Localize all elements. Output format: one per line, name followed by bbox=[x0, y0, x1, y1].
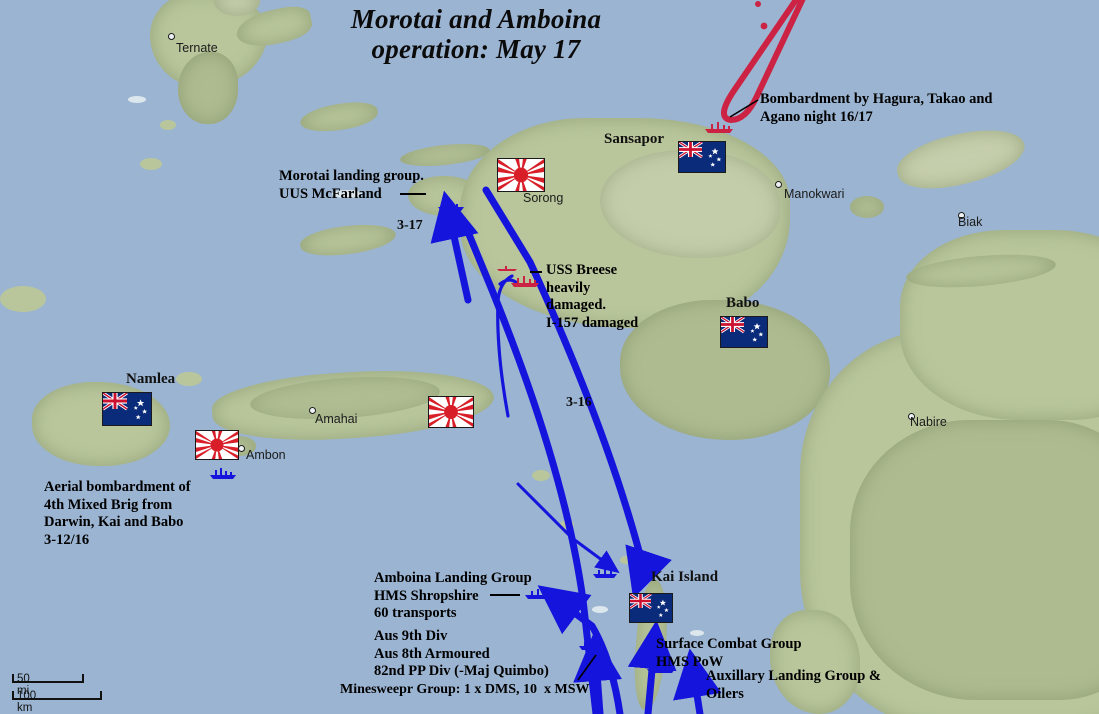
scale-bar-km-label: 100 km bbox=[17, 690, 36, 714]
place-ambon: Ambon bbox=[246, 448, 286, 462]
minesweeper-group-note: Minesweepr Group: 1 x DMS, 10 x MSW bbox=[340, 681, 590, 698]
track-label-3-16: 3-16 bbox=[566, 395, 592, 411]
flag-nz-sansapor bbox=[678, 141, 726, 173]
aerial-bombardment-note: Aerial bombardment of 4th Mixed Brig fro… bbox=[44, 479, 191, 550]
city-dot-ternate bbox=[168, 33, 175, 40]
ship-symbol-kai-approach bbox=[592, 568, 618, 579]
flag-japan-seram bbox=[428, 396, 474, 428]
ship-symbol-minesweeper-group bbox=[578, 640, 604, 651]
reef-3 bbox=[592, 606, 608, 613]
islet-5 bbox=[532, 470, 550, 481]
islet-1 bbox=[160, 120, 176, 130]
islet-3 bbox=[0, 286, 46, 312]
place-namlea: Namlea bbox=[126, 371, 175, 388]
city-dot-ambon bbox=[238, 445, 245, 452]
islet-6 bbox=[560, 520, 574, 529]
place-nabire: Nabire bbox=[910, 415, 947, 429]
morotai-landing-group-note: Morotai landing group. UUS McFarland bbox=[279, 168, 424, 203]
islet-4 bbox=[176, 372, 202, 386]
place-kai-island: Kai Island bbox=[651, 569, 718, 586]
morotai-leader-line bbox=[400, 193, 426, 195]
ship-symbol-auxillary-landing-group bbox=[680, 676, 708, 687]
ship-symbol-japanese-bombardment bbox=[704, 120, 734, 134]
islet-2 bbox=[140, 158, 162, 170]
ship-symbol-morotai-group bbox=[437, 200, 465, 212]
uss-breese-note: USS Breese heavily damaged. I-157 damage… bbox=[546, 262, 638, 333]
auxillary-landing-group-note: Auxillary Landing Group & Oilers bbox=[706, 668, 881, 703]
surface-combat-group-note: Surface Combat Group HMS PoW bbox=[656, 636, 802, 671]
place-manokwari: Manokwari bbox=[784, 187, 844, 201]
flag-nz-namlea bbox=[102, 392, 152, 426]
place-biak: Biak bbox=[958, 215, 982, 229]
operations-map: Ternate Sorong Sansapor Manokwari Biak B… bbox=[0, 0, 1099, 714]
islet-7 bbox=[620, 556, 632, 564]
ground-forces-note: Aus 9th Div Aus 8th Armoured 82nd PP Div… bbox=[374, 628, 549, 681]
flag-nz-babo bbox=[720, 316, 768, 348]
ship-symbol-ambon-allied bbox=[209, 466, 237, 480]
landmass-biak-island bbox=[892, 119, 1030, 199]
uss-breese-leader-line bbox=[530, 271, 542, 273]
track-label-3-17: 3-17 bbox=[397, 218, 423, 234]
amboina-leader-line bbox=[490, 594, 520, 596]
kai-island-approach-arrow bbox=[642, 560, 646, 572]
ship-symbol-uss-breese bbox=[510, 274, 540, 288]
city-dot-manokwari bbox=[775, 181, 782, 188]
place-babo: Babo bbox=[726, 295, 759, 312]
map-title-line1: Morotai and Amboina bbox=[295, 4, 657, 34]
place-amahai: Amahai bbox=[315, 412, 357, 426]
landmass-new-guinea-ranges bbox=[850, 420, 1099, 700]
bombardment-note: Bombardment by Hagura, Takao and Agano n… bbox=[760, 91, 992, 126]
flag-japan-sorong bbox=[497, 158, 545, 192]
landmass-misool bbox=[299, 220, 398, 259]
reef-2 bbox=[128, 96, 146, 103]
flag-japan-ambon bbox=[195, 430, 239, 460]
place-sansapor: Sansapor bbox=[604, 131, 664, 148]
flag-nz-kai-island bbox=[629, 593, 673, 623]
map-title: Morotai and Amboina operation: May 17 bbox=[295, 4, 657, 64]
ship-symbol-japanese-submarine bbox=[496, 264, 518, 272]
landmass-waigeo bbox=[299, 99, 380, 136]
leader-bombardment bbox=[730, 100, 758, 117]
landmass-numfor-island bbox=[850, 196, 884, 218]
amboina-landing-group-note: Amboina Landing Group HMS Shropshire 60 … bbox=[374, 570, 532, 623]
place-ternate: Ternate bbox=[176, 41, 218, 55]
minesweeper-group-arrow bbox=[596, 660, 600, 714]
landmass-halmahera-south bbox=[178, 52, 238, 124]
map-title-line2: operation: May 17 bbox=[295, 34, 657, 64]
leader-minesweeper bbox=[578, 655, 596, 680]
place-sorong: Sorong bbox=[523, 191, 563, 205]
